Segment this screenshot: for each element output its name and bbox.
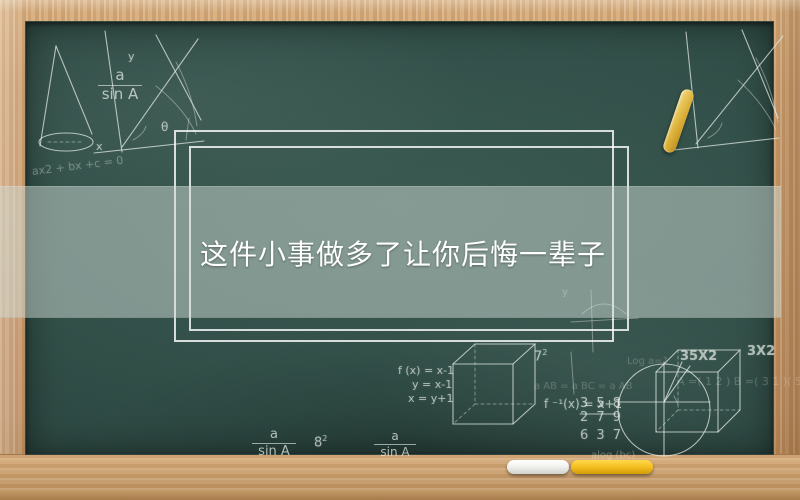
frame-bottom-rail (0, 454, 800, 500)
frame-top-highlight (0, 0, 800, 12)
screenshot-root: y x θ a sin A ax2 + bx +c = 0 35X2 3X2 A… (0, 0, 800, 500)
yellow-chalk-piece (571, 460, 653, 474)
frame-bottom-ledge (0, 490, 800, 500)
white-chalk-piece (507, 460, 569, 474)
headline-text: 这件小事做多了让你后悔一辈子 (200, 233, 606, 273)
